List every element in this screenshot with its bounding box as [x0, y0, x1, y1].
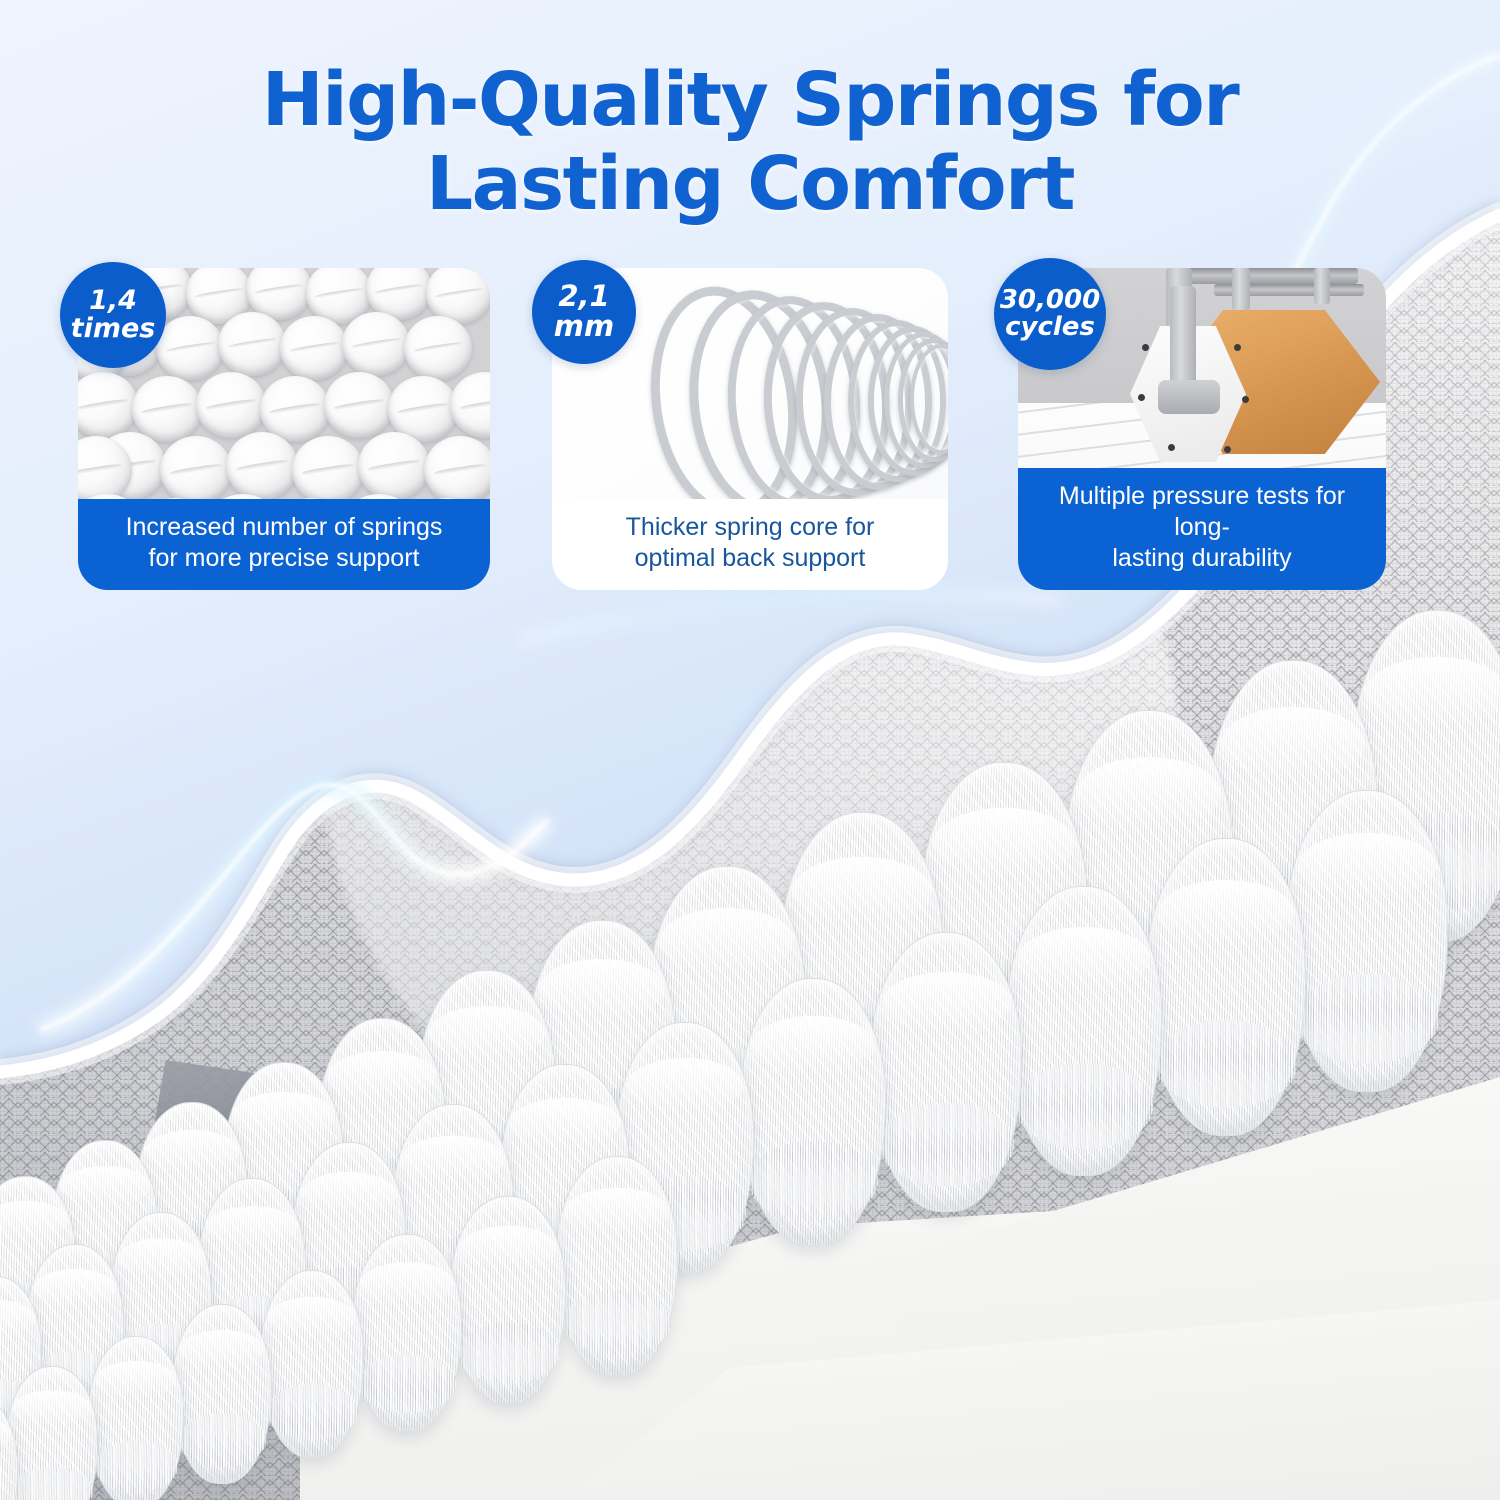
feature-card-2-badge: 2,1 mm [532, 260, 636, 364]
roller-bolt [1142, 344, 1149, 351]
feature-card-3-caption-line-2: lasting durability [1028, 543, 1376, 574]
feature-card-1-caption-line-2: for more precise support [88, 543, 480, 574]
spring-roll [358, 432, 430, 500]
spring-roll [196, 372, 266, 438]
page-title-line-2: Lasting Comfort [0, 142, 1500, 226]
feature-card-2-badge-line-2: mm [554, 312, 614, 342]
spring-roll [424, 436, 490, 504]
feature-card-3-badge-line-1: 30,000 [1000, 287, 1100, 314]
pocket-spring [260, 1270, 364, 1458]
spring-roll [292, 436, 364, 504]
feature-card-2-caption-line-1: Thicker spring core for [562, 512, 938, 543]
spring-roll [404, 316, 472, 380]
feature-card-1-badge-line-1: 1,4 [71, 287, 156, 315]
roller-bolt [1242, 396, 1249, 403]
test-rig-bracket [1158, 380, 1220, 414]
feature-card-3-caption-line-1: Multiple pressure tests for long- [1028, 481, 1376, 543]
spring-roll [78, 372, 138, 438]
spring-roll [226, 432, 298, 500]
pocket-spring [88, 1336, 184, 1500]
feature-card-1-caption-line-1: Increased number of springs [88, 512, 480, 543]
feature-card-1-badge: 1,4 times [60, 262, 166, 368]
spring-roll [342, 312, 410, 376]
pocket-spring [6, 1366, 98, 1500]
test-rig-column [1314, 268, 1330, 304]
roller-bolt [1138, 394, 1145, 401]
pocket-spring [1286, 790, 1448, 1092]
page-title: High-Quality Springs for Lasting Comfort [0, 58, 1500, 226]
spring-roll [156, 316, 224, 380]
feature-card-springs-count[interactable]: Increased number of springs for more pre… [78, 268, 490, 590]
spring-roll [450, 372, 490, 438]
spring-roll [280, 316, 348, 380]
test-rig-column [1232, 268, 1250, 310]
infographic-stage: High-Quality Springs for Lasting Comfort [0, 0, 1500, 1500]
feature-card-3-badge: 30,000 cycles [994, 258, 1106, 370]
pocket-spring [870, 932, 1022, 1212]
roller-bolt [1168, 444, 1175, 451]
roller-bolt [1234, 344, 1241, 351]
spring-roll [160, 436, 232, 504]
feature-card-2-caption-line-2: optimal back support [562, 543, 938, 574]
feature-card-pressure-tests[interactable]: Multiple pressure tests for long- lastin… [1018, 268, 1386, 590]
feature-card-2-badge-line-1: 2,1 [554, 282, 614, 312]
pocket-spring [352, 1234, 462, 1432]
spring-roll [324, 372, 394, 438]
pocket-spring [172, 1304, 272, 1484]
spring-roll [218, 312, 286, 376]
feature-card-2-caption: Thicker spring core for optimal back sup… [552, 499, 948, 590]
feature-card-3-caption: Multiple pressure tests for long- lastin… [1018, 468, 1386, 590]
feature-card-spring-thickness[interactable]: Thicker spring core for optimal back sup… [552, 268, 948, 590]
feature-card-1-caption: Increased number of springs for more pre… [78, 499, 490, 590]
pocket-spring [740, 978, 886, 1246]
pocket-spring [1146, 838, 1306, 1136]
spring-roll [132, 376, 202, 442]
pocket-spring [1006, 886, 1162, 1176]
page-title-line-1: High-Quality Springs for [262, 57, 1238, 143]
feature-card-1-badge-line-2: times [71, 315, 156, 343]
pocket-spring [450, 1196, 566, 1404]
feature-card-3-badge-line-2: cycles [1000, 314, 1100, 341]
pocket-spring [556, 1156, 678, 1376]
roller-bolt [1224, 446, 1231, 453]
